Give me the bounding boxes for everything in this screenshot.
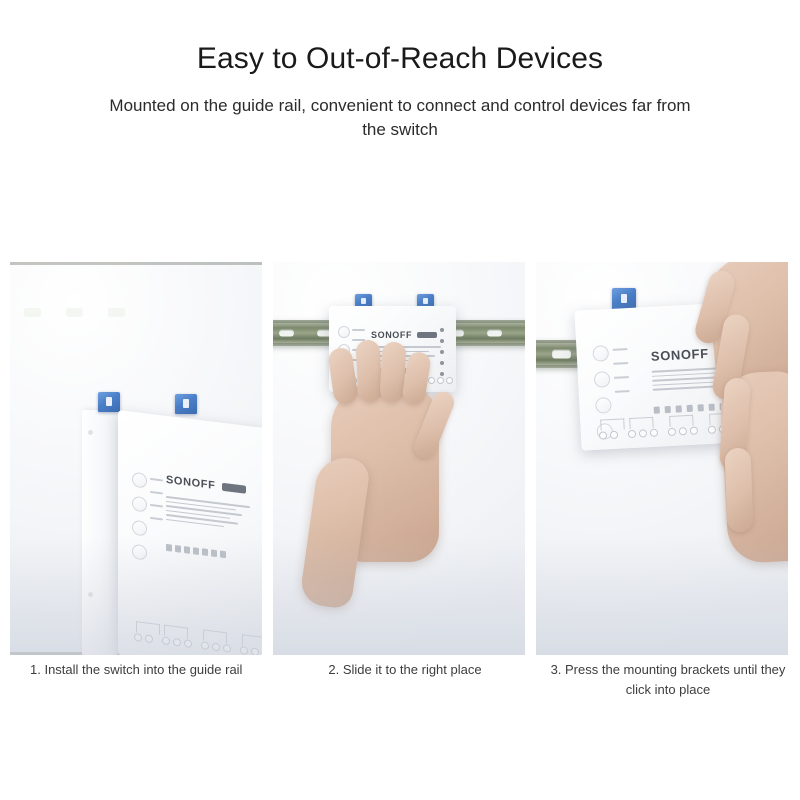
bracket-screw-top [88, 430, 93, 435]
caption-step-3: 3. Press the mounting brackets until the… [532, 660, 798, 720]
spec-text-block [652, 366, 749, 393]
page-subtitle: Mounted on the guide rail, convenient to… [100, 78, 700, 143]
sonoff-device: SONOFF [574, 301, 761, 450]
page-title: Easy to Out-of-Reach Devices [0, 0, 800, 78]
panel-shadow [536, 535, 788, 655]
step-panel-3: SONOFF [536, 262, 788, 655]
terminal-block [599, 424, 738, 439]
model-badge [417, 332, 437, 338]
panel-shadow [10, 535, 262, 655]
mounting-clip-left [98, 392, 120, 412]
brand-logo: SONOFF [166, 474, 215, 492]
caption-step-1: 1. Install the switch into the guide rai… [0, 660, 266, 720]
button-labels [352, 329, 365, 369]
caption-step-2: 2. Slide it to the right place [266, 660, 532, 720]
certification-marks [654, 403, 726, 414]
mounting-clip-left [612, 288, 636, 310]
mounting-clip-right [175, 394, 197, 414]
spec-text-block [166, 496, 252, 534]
certification-marks [371, 368, 416, 374]
header: Easy to Out-of-Reach Devices Mounted on … [0, 0, 800, 143]
panel-shadow [273, 535, 525, 655]
model-badge [222, 483, 246, 494]
step-panels: SONOFF [10, 262, 788, 655]
led-indicators [440, 328, 444, 383]
brand-logo: SONOFF [651, 346, 709, 364]
step-panel-2: SONOFF [273, 262, 525, 655]
terminal-block [341, 377, 453, 384]
step-captions: 1. Install the switch into the guide rai… [0, 660, 800, 720]
sonoff-device: SONOFF [329, 306, 456, 392]
button-labels [150, 478, 163, 532]
button-labels [613, 348, 631, 405]
brand-logo: SONOFF [371, 330, 412, 340]
spec-text-block [371, 346, 443, 364]
step-panel-1: SONOFF [10, 262, 262, 655]
